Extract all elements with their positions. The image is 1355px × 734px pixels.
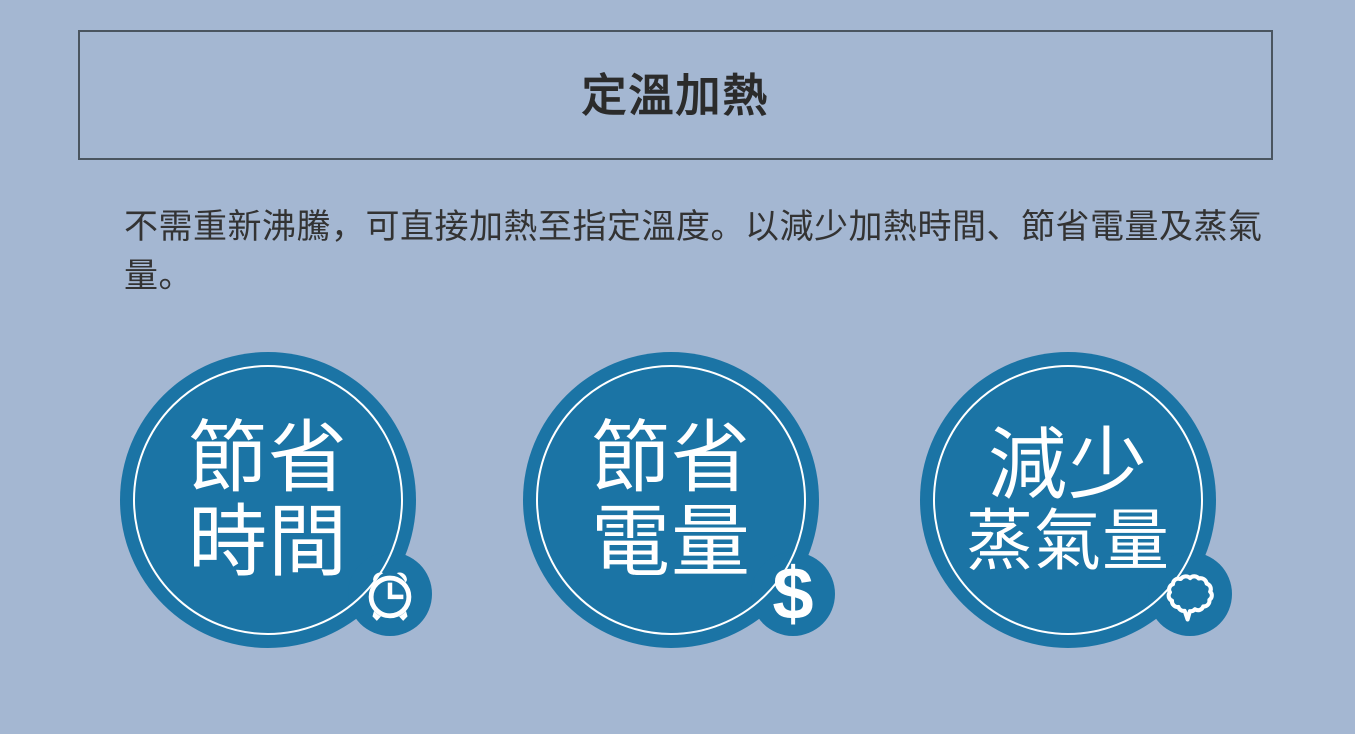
badge-label-line2: 時間 (188, 500, 348, 584)
badge-label: 減少 蒸氣量 (920, 352, 1216, 648)
title-box: 定溫加熱 (78, 30, 1273, 160)
page-title: 定溫加熱 (581, 73, 769, 118)
description-text: 不需重新沸騰，可直接加熱至指定溫度。以減少加熱時間、節省電量及蒸氣量。 (124, 203, 1289, 302)
badge-label-line1: 節省 (591, 416, 751, 500)
badge-row: 節省 時間 $ 節省 電量 減少 蒸氣量 (0, 352, 1355, 662)
badge-label-line1: 節省 (188, 416, 348, 500)
badge-label: 節省 時間 (120, 352, 416, 648)
badge-save-electricity: $ 節省 電量 (523, 352, 819, 648)
badge-label-line2: 電量 (591, 500, 751, 584)
badge-label: 節省 電量 (523, 352, 819, 648)
badge-label-line1: 減少 (988, 423, 1148, 507)
badge-save-time: 節省 時間 (120, 352, 416, 648)
badge-reduce-steam: 減少 蒸氣量 (920, 352, 1216, 648)
badge-label-line2: 蒸氣量 (966, 506, 1170, 577)
